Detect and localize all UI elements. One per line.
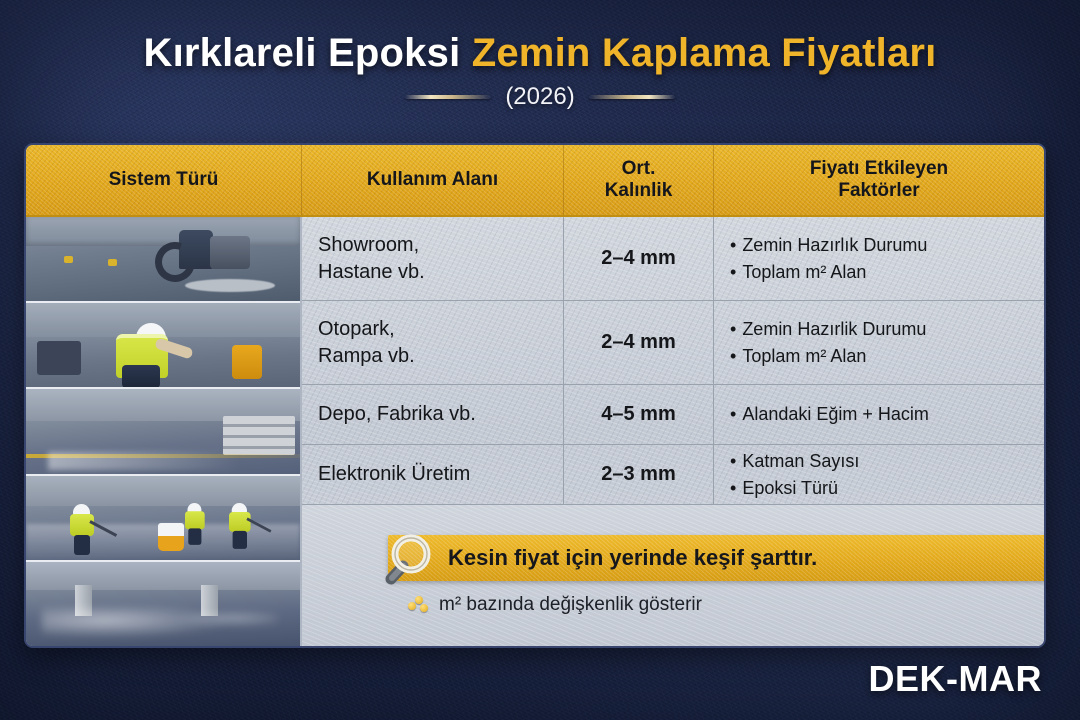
column-header-label: Fiyatı Etkileyen Faktörler [810, 158, 948, 202]
column-header-ort-kalinlik: Ort. Kalınlik [564, 145, 714, 215]
floor-reflection [169, 609, 279, 628]
cell-line2: Rampa vb. [318, 343, 547, 369]
cell-value: 2–4 mm [601, 247, 676, 270]
footer-note: m² bazında değişkenlik gösterir [408, 594, 1046, 616]
photo-finished-glossy-floor [26, 562, 300, 646]
warehouse-crate [37, 341, 81, 375]
cell-value: 2–4 mm [601, 331, 676, 354]
table-row: Showroom, Hastane vb. 2–4 mm Zemin Hazır… [302, 217, 1046, 301]
cell-line1: Otopark, [318, 316, 547, 342]
storage-racking [223, 416, 295, 455]
footer-note-text: m² bazında değişkenlik gösterir [439, 594, 702, 616]
column-header-line2: Kalınlik [605, 180, 673, 201]
factor-item: Toplam m² Alan [730, 343, 1046, 370]
cell-line1: Elektronik Üretim [318, 461, 547, 487]
pricing-table-card: Sistem Türü Kullanım Alanı Ort. Kalınlik… [24, 143, 1046, 648]
warehouse-object [108, 259, 117, 266]
cell-faktorler: Zemin Hazırlik Durumu Toplam m² Alan [714, 301, 1046, 384]
worker-legs [188, 528, 201, 544]
table-header-row: Sistem Türü Kullanım Alanı Ort. Kalınlik… [26, 145, 1044, 217]
cell-value: 4–5 mm [601, 403, 676, 426]
cell-kullanim-alani: Showroom, Hastane vb. [302, 217, 564, 300]
photo-floor-grinding-machine [26, 217, 300, 303]
cell-ort-kalinlik: 4–5 mm [564, 385, 714, 444]
column-header-label: Ort. Kalınlik [605, 158, 673, 202]
banner-text: Kesin fiyat için yerinde keşif şarttır. [448, 545, 817, 571]
cell-value: 2–3 mm [601, 463, 676, 486]
title-white-part: Kırklareli Epoksi [144, 31, 472, 75]
table-row: Depo, Fabrika vb. 4–5 mm Alandaki Eğim +… [302, 385, 1046, 445]
worker-hi-vis-vest [70, 514, 94, 536]
divider-left [405, 95, 491, 99]
cell-line1: Depo, Fabrika vb. [318, 401, 547, 427]
brand-logo: DEK-MAR [869, 658, 1042, 700]
page-subtitle-year: (2026) [505, 83, 574, 111]
cell-line1: Showroom, [318, 232, 547, 258]
coins-icon [408, 596, 430, 614]
magnifier-icon [382, 529, 440, 587]
worker-hi-vis-vest [229, 512, 251, 532]
factor-item: Alandaki Eğim + Hacim [730, 401, 1046, 428]
worker-legs [122, 365, 160, 389]
cell-line2: Hastane vb. [318, 259, 547, 285]
cell-ort-kalinlik: 2–3 mm [564, 445, 714, 504]
table-row: Elektronik Üretim 2–3 mm Katman Sayısı E… [302, 445, 1046, 505]
cell-faktorler: Katman Sayısı Epoksi Türü [714, 445, 1046, 504]
factor-item: Toplam m² Alan [730, 259, 1046, 286]
cell-kullanim-alani: Otopark, Rampa vb. [302, 301, 564, 384]
worker-legs [232, 531, 246, 549]
page-title: Kırklareli Epoksi Zemin Kaplama Fiyatlar… [0, 32, 1080, 74]
photo-warehouse-wide-floor [26, 389, 300, 475]
floor-gloss-reflection [48, 452, 240, 470]
table-row: Otopark, Rampa vb. 2–4 mm Zemin Hazırlik… [302, 301, 1046, 385]
column-header-label: Kullanım Alanı [367, 169, 498, 191]
divider-right [589, 95, 675, 99]
data-column: Showroom, Hastane vb. 2–4 mm Zemin Hazır… [302, 217, 1046, 646]
column-header-kullanim-alani: Kullanım Alanı [302, 145, 564, 215]
machine-vacuum [210, 236, 250, 270]
sistem-turu-photo-column [26, 217, 302, 646]
epoxy-bucket [158, 523, 184, 551]
photo-worker-preparing-floor [26, 303, 300, 389]
header: Kırklareli Epoksi Zemin Kaplama Fiyatlar… [0, 32, 1080, 111]
worker-legs [74, 535, 90, 555]
survey-required-banner: Kesin fiyat için yerinde keşif şarttır. [388, 535, 1046, 581]
warehouse-object [64, 256, 73, 263]
factor-item: Zemin Hazırlik Durumu [730, 316, 1046, 343]
column-header-line1: Fiyatı Etkileyen [810, 158, 948, 179]
cell-faktorler: Alandaki Eğim + Hacim [714, 385, 1046, 444]
photo-team-applying-epoxy [26, 476, 300, 562]
concrete-pad [185, 279, 275, 292]
column-header-sistem-turu: Sistem Türü [26, 145, 302, 215]
column-header-fiyati-etkileyen-faktorler: Fiyatı Etkileyen Faktörler [714, 145, 1044, 215]
table-body: Showroom, Hastane vb. 2–4 mm Zemin Hazır… [26, 217, 1044, 646]
factor-item: Zemin Hazırlık Durumu [730, 232, 1046, 259]
cell-ort-kalinlik: 2–4 mm [564, 217, 714, 300]
subtitle-row: (2026) [0, 83, 1080, 111]
worker-hi-vis-vest [185, 511, 205, 529]
title-gold-part: Zemin Kaplama Fiyatları [472, 31, 937, 75]
factor-item: Katman Sayısı [730, 448, 1046, 475]
cell-faktorler: Zemin Hazırlık Durumu Toplam m² Alan [714, 217, 1046, 300]
column-header-label: Sistem Türü [109, 169, 219, 191]
cell-ort-kalinlik: 2–4 mm [564, 301, 714, 384]
cell-kullanim-alani: Elektronik Üretim [302, 445, 564, 504]
cell-kullanim-alani: Depo, Fabrika vb. [302, 385, 564, 444]
column-header-line1: Ort. [622, 158, 656, 179]
table-footer: Kesin fiyat için yerinde keşif şarttır. … [302, 505, 1046, 646]
yellow-barrel [232, 345, 262, 379]
factor-item: Epoksi Türü [730, 475, 1046, 502]
column-header-line2: Faktörler [838, 180, 919, 201]
